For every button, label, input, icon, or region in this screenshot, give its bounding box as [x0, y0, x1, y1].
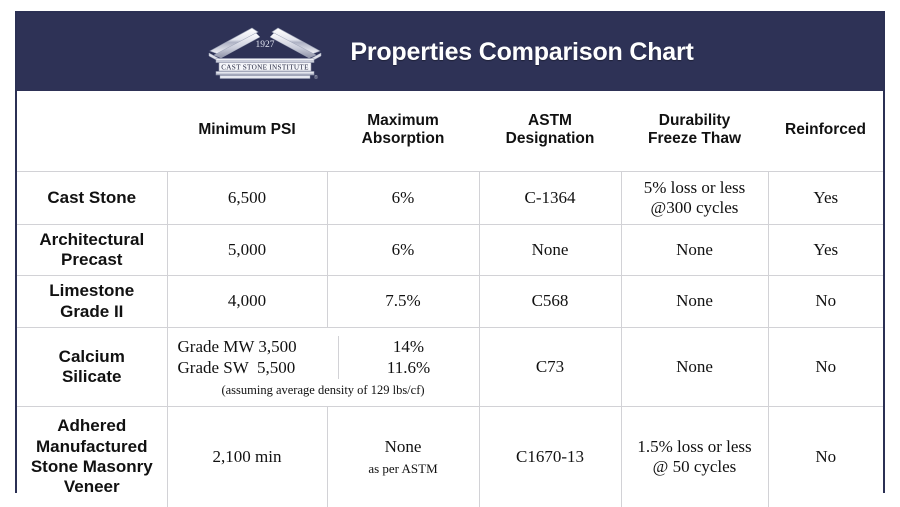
table-row: Architectural Precast 5,000 6% None None	[17, 225, 883, 276]
row-label-line: Veneer	[17, 477, 167, 497]
chart-banner: 1927 CAST STONE INSTITUTE ® Properties C…	[17, 13, 883, 91]
cell-calcium-silicate-durability: None	[621, 328, 768, 407]
cell-architectural-precast-durability: None	[621, 225, 768, 276]
row-label-limestone-grade-ii: Limestone Grade II	[17, 276, 167, 328]
row-label-architectural-precast: Architectural Precast	[17, 225, 167, 276]
cell-cast-stone-reinforced: Yes	[768, 172, 883, 225]
cell-cast-stone-astm: C-1364	[479, 172, 621, 225]
row-label-line: Cast Stone	[17, 188, 167, 208]
table-row: Calcium Silicate Grade MW 3,500 Grade SW…	[17, 328, 883, 407]
column-header-durability: Durability Freeze Thaw	[621, 91, 768, 172]
cell-cast-stone-max-absorption: 6%	[327, 172, 479, 225]
cell-adhered-max-absorption: None as per ASTM	[327, 407, 479, 507]
properties-table: Minimum PSI Maximum Absorption ASTM Desi…	[17, 91, 883, 507]
cell-calcium-silicate-max-absorption: 14% 11.6%	[338, 336, 479, 379]
cell-limestone-max-absorption: 7.5%	[327, 276, 479, 328]
row-label-line: Adhered	[17, 416, 167, 436]
chart-frame: 1927 CAST STONE INSTITUTE ® Properties C…	[15, 11, 885, 493]
row-label-adhered-manufactured-stone-masonry-veneer: Adhered Manufactured Stone Masonry Venee…	[17, 407, 167, 507]
cell-architectural-precast-reinforced: Yes	[768, 225, 883, 276]
table-row: Cast Stone 6,500 6% C-1364 5% loss or le…	[17, 172, 883, 225]
column-header-min-psi: Minimum PSI	[167, 91, 327, 172]
column-header-reinforced-line1: Reinforced	[785, 121, 866, 138]
column-header-max-absorption: Maximum Absorption	[327, 91, 479, 172]
column-header-durability-line2: Freeze Thaw	[623, 130, 766, 148]
cell-calcium-silicate-reinforced: No	[768, 328, 883, 407]
cell-adhered-reinforced: No	[768, 407, 883, 507]
cell-adhered-astm: C1670-13	[479, 407, 621, 507]
column-header-material	[17, 91, 167, 172]
column-header-astm-line1: ASTM	[528, 112, 572, 129]
cell-calcium-silicate-psi-absorption: Grade MW 3,500 Grade SW 5,500 14% 11.6% …	[167, 328, 479, 407]
cell-calcium-silicate-min-psi: Grade MW 3,500 Grade SW 5,500	[168, 336, 338, 379]
row-label-line: Grade II	[17, 302, 167, 322]
logo-wordmark-text: CAST STONE INSTITUTE	[222, 63, 310, 71]
cell-cast-stone-min-psi: 6,500	[167, 172, 327, 225]
column-header-min-psi-line1: Minimum PSI	[198, 121, 295, 138]
properties-comparison-chart-page: 1927 CAST STONE INSTITUTE ® Properties C…	[0, 0, 900, 505]
row-label-line: Manufactured	[17, 437, 167, 457]
row-label-line: Precast	[17, 250, 167, 270]
row-label-line: Calcium	[17, 347, 167, 367]
logo-year-text: 1927	[256, 40, 275, 50]
logo-registered-mark: ®	[315, 74, 319, 81]
cell-limestone-reinforced: No	[768, 276, 883, 328]
column-header-astm: ASTM Designation	[479, 91, 621, 172]
cell-adhered-min-psi: 2,100 min	[167, 407, 327, 507]
column-header-durability-line1: Durability	[659, 112, 730, 129]
row-label-line: Silicate	[17, 367, 167, 387]
row-label-line: Stone Masonry	[17, 457, 167, 477]
row-label-cast-stone: Cast Stone	[17, 172, 167, 225]
cell-limestone-astm: C568	[479, 276, 621, 328]
table-row: Adhered Manufactured Stone Masonry Venee…	[17, 407, 883, 507]
cell-architectural-precast-astm: None	[479, 225, 621, 276]
cell-adhered-max-absorption-note: as per ASTM	[328, 461, 479, 477]
cell-calcium-silicate-astm: C73	[479, 328, 621, 407]
column-header-astm-line2: Designation	[481, 130, 619, 148]
cell-architectural-precast-max-absorption: 6%	[327, 225, 479, 276]
cast-stone-institute-logo: 1927 CAST STONE INSTITUTE ®	[206, 21, 324, 83]
cell-limestone-min-psi: 4,000	[167, 276, 327, 328]
cell-limestone-durability: None	[621, 276, 768, 328]
row-label-line: Architectural	[17, 230, 167, 250]
column-header-max-absorption-line1: Maximum	[367, 112, 439, 129]
row-label-line: Limestone	[17, 281, 167, 301]
cell-adhered-durability: 1.5% loss or less @ 50 cycles	[621, 407, 768, 507]
calcium-silicate-density-note: (assuming average density of 129 lbs/cf)	[168, 379, 479, 398]
cell-architectural-precast-min-psi: 5,000	[167, 225, 327, 276]
column-header-max-absorption-line2: Absorption	[329, 130, 477, 148]
table-row: Limestone Grade II 4,000 7.5% C568 None	[17, 276, 883, 328]
cell-cast-stone-durability: 5% loss or less @300 cycles	[621, 172, 768, 225]
table-header-row: Minimum PSI Maximum Absorption ASTM Desi…	[17, 91, 883, 172]
page-title: Properties Comparison Chart	[350, 38, 693, 67]
row-label-calcium-silicate: Calcium Silicate	[17, 328, 167, 407]
column-header-reinforced: Reinforced	[768, 91, 883, 172]
